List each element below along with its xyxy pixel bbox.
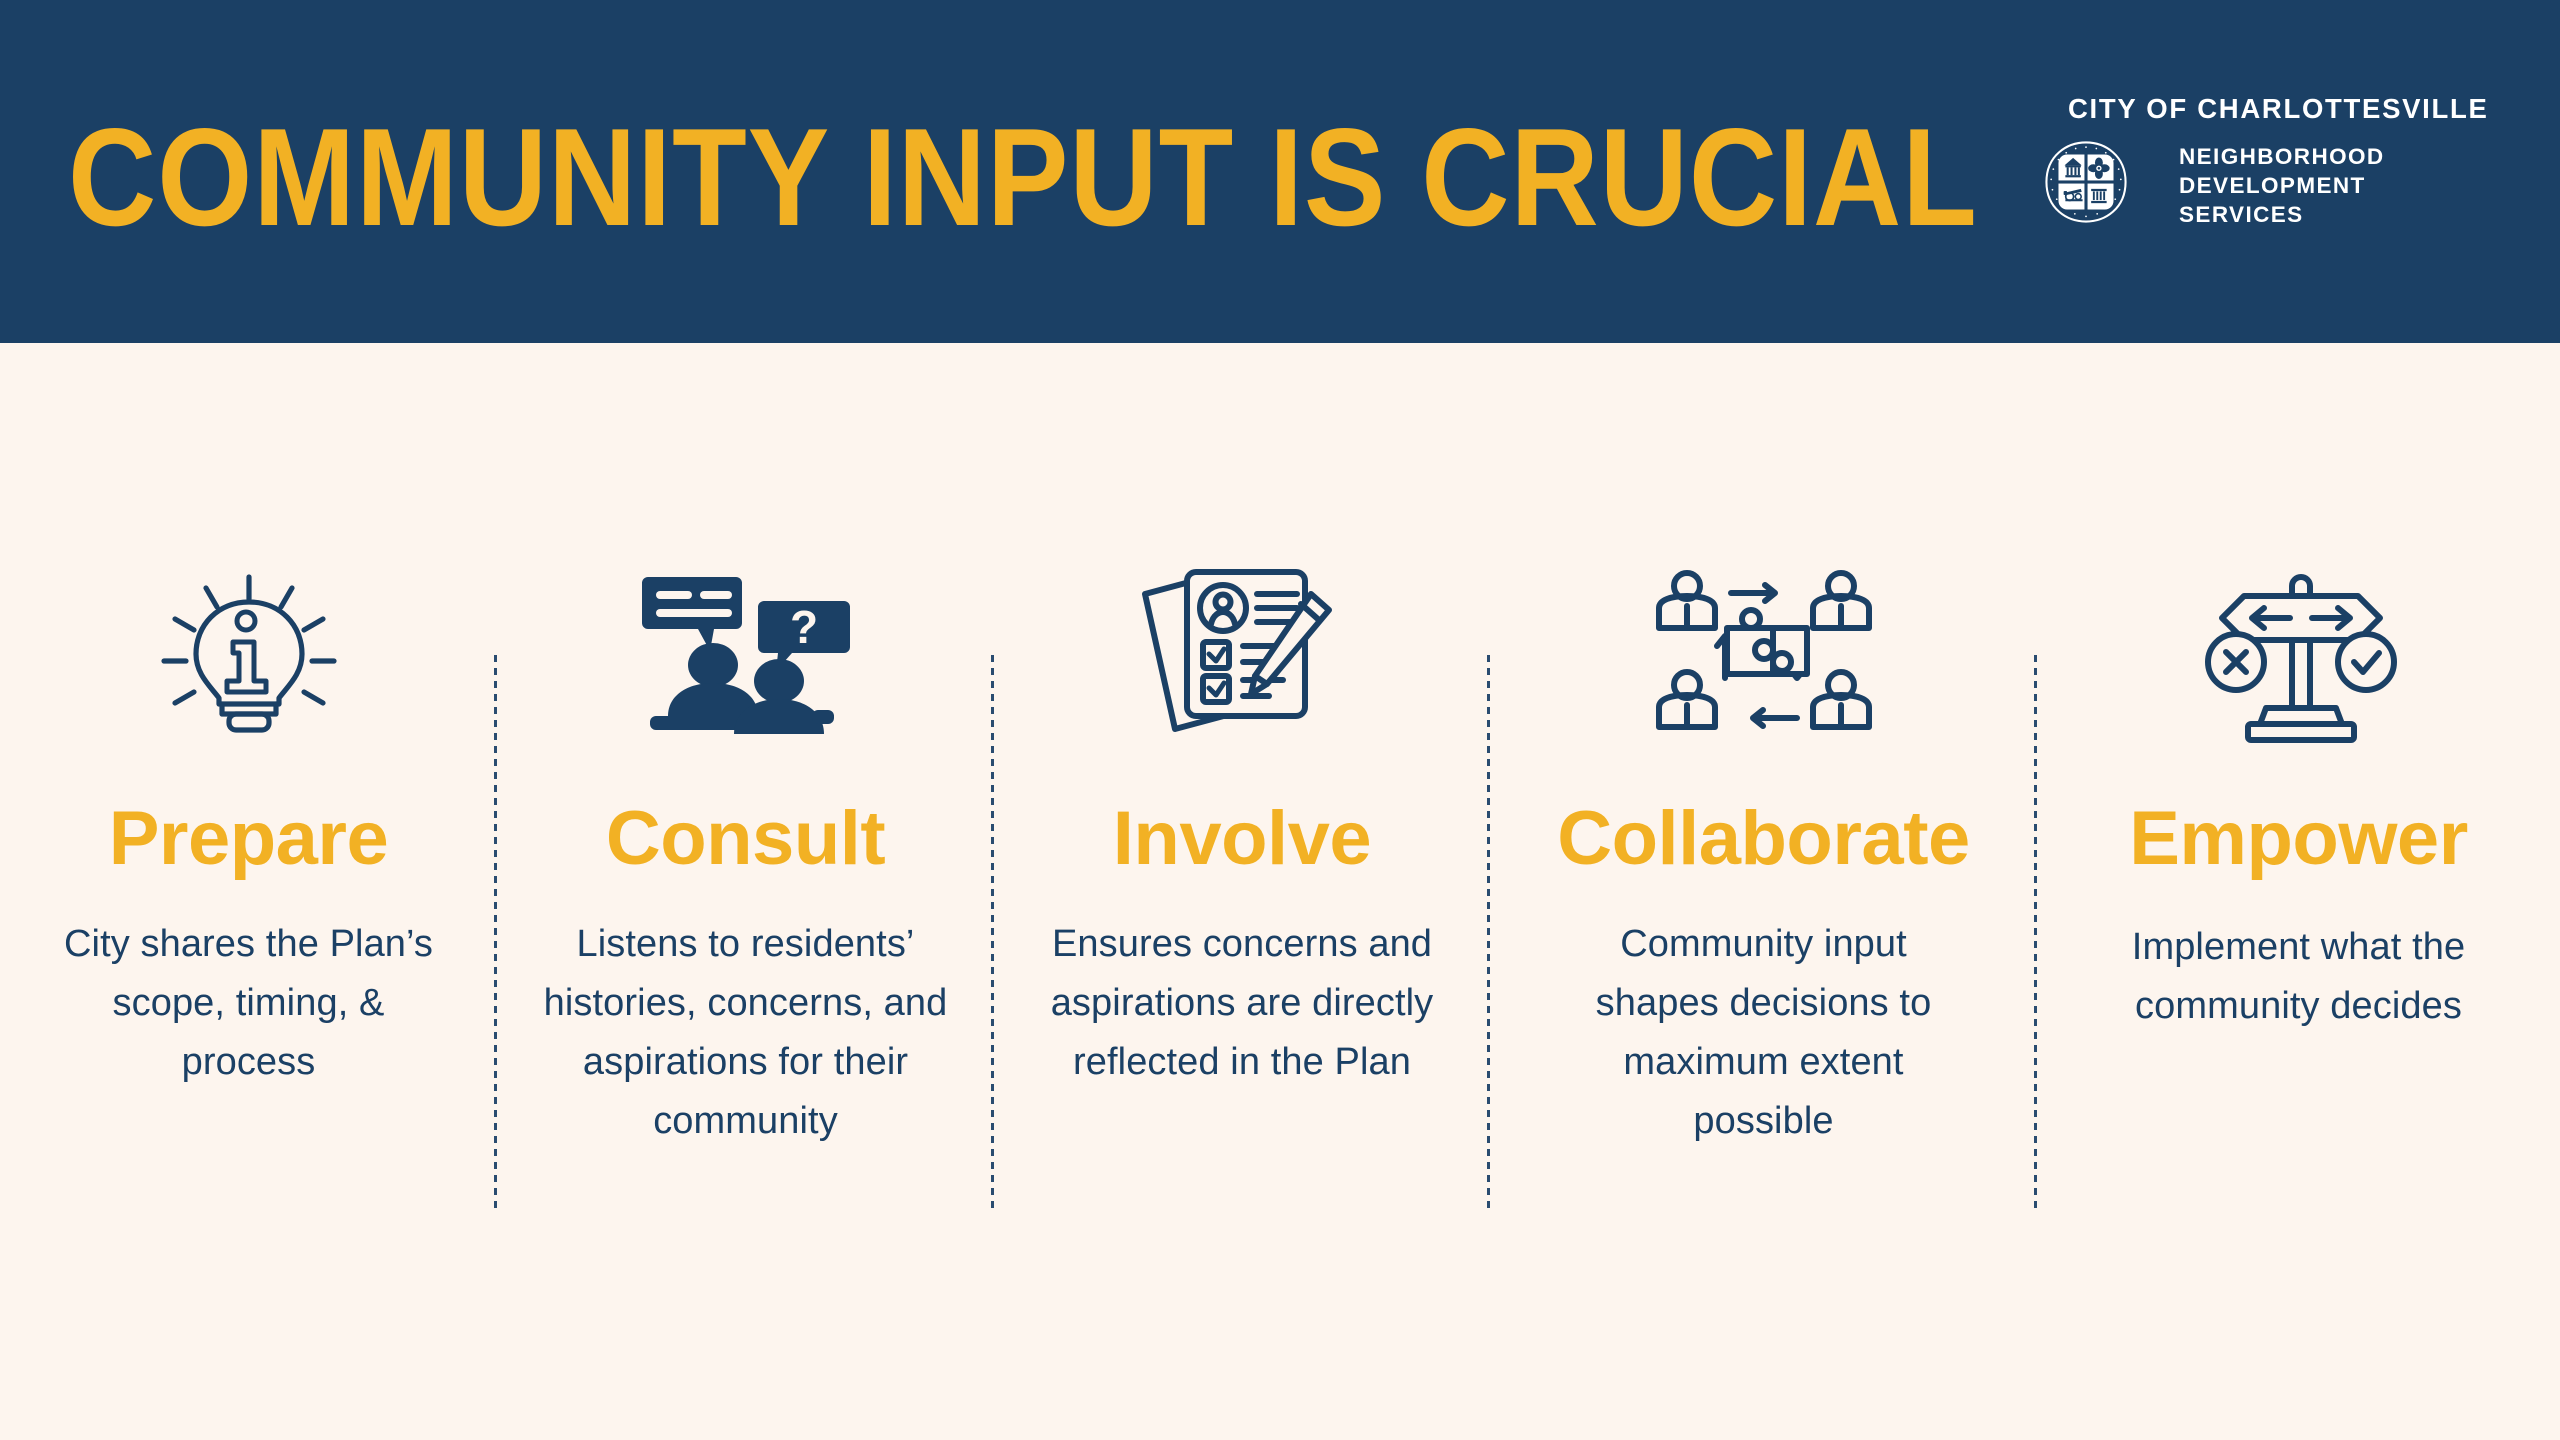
people-puzzle-network-icon — [1655, 566, 1873, 744]
infographic-page: COMMUNITY INPUT IS CRUCIAL CITY OF CHARL… — [0, 0, 2560, 1440]
svg-text:?: ? — [789, 601, 817, 653]
column-prepare: Prepare City shares the Plan’s scope, ti… — [0, 343, 497, 1092]
icon-involve-wrap — [994, 575, 1490, 735]
charlottesville-city-seal-icon — [2043, 139, 2129, 225]
heading-collaborate: Collaborate — [1490, 801, 2037, 877]
column-consult: ? Consult Listens to residents’ historie… — [497, 343, 994, 1151]
icon-prepare-wrap — [0, 575, 497, 735]
header-banner: COMMUNITY INPUT IS CRUCIAL CITY OF CHARL… — [0, 0, 2560, 343]
logo-dept-line-3: SERVICES — [2179, 200, 2385, 229]
logo-city-line: CITY OF CHARLOTTESVILLE — [2068, 95, 2533, 123]
logo-department-lines: NEIGHBORHOOD DEVELOPMENT SERVICES — [2179, 142, 2385, 230]
people-speech-bubbles-icon: ? — [636, 571, 856, 739]
column-collaborate: Collaborate Community input shapes decis… — [1490, 343, 2037, 1151]
icon-collaborate-wrap — [1490, 575, 2037, 735]
logo-dept-line-1: NEIGHBORHOOD — [2179, 142, 2385, 171]
icon-empower-wrap — [2037, 575, 2560, 735]
body-involve: Ensures concerns and aspirations are dir… — [994, 915, 1490, 1092]
heading-prepare: Prepare — [0, 801, 497, 877]
survey-form-pencil-icon — [1135, 566, 1350, 744]
city-logo-block: CITY OF CHARLOTTESVILLE — [2043, 95, 2533, 229]
lightbulb-info-icon — [134, 571, 364, 739]
column-empower: Empower Implement what the community dec… — [2037, 343, 2560, 1036]
heading-consult: Consult — [497, 801, 994, 877]
body-prepare: City shares the Plan’s scope, timing, & … — [0, 915, 497, 1092]
column-involve: Involve Ensures concerns and aspirations… — [994, 343, 1490, 1092]
engagement-ladder-columns: Prepare City shares the Plan’s scope, ti… — [0, 343, 2560, 1440]
icon-consult-wrap: ? — [497, 575, 994, 735]
heading-empower: Empower — [2037, 801, 2560, 877]
signpost-choice-icon — [2194, 566, 2404, 744]
body-collaborate: Community input shapes decisions to maxi… — [1490, 915, 2037, 1151]
page-title: COMMUNITY INPUT IS CRUCIAL — [68, 108, 1978, 247]
logo-row: NEIGHBORHOOD DEVELOPMENT SERVICES — [2043, 139, 2533, 230]
logo-dept-line-2: DEVELOPMENT — [2179, 171, 2385, 200]
heading-involve: Involve — [994, 801, 1490, 877]
body-consult: Listens to residents’ histories, concern… — [497, 915, 994, 1151]
body-empower: Implement what the community decides — [2037, 918, 2560, 1036]
